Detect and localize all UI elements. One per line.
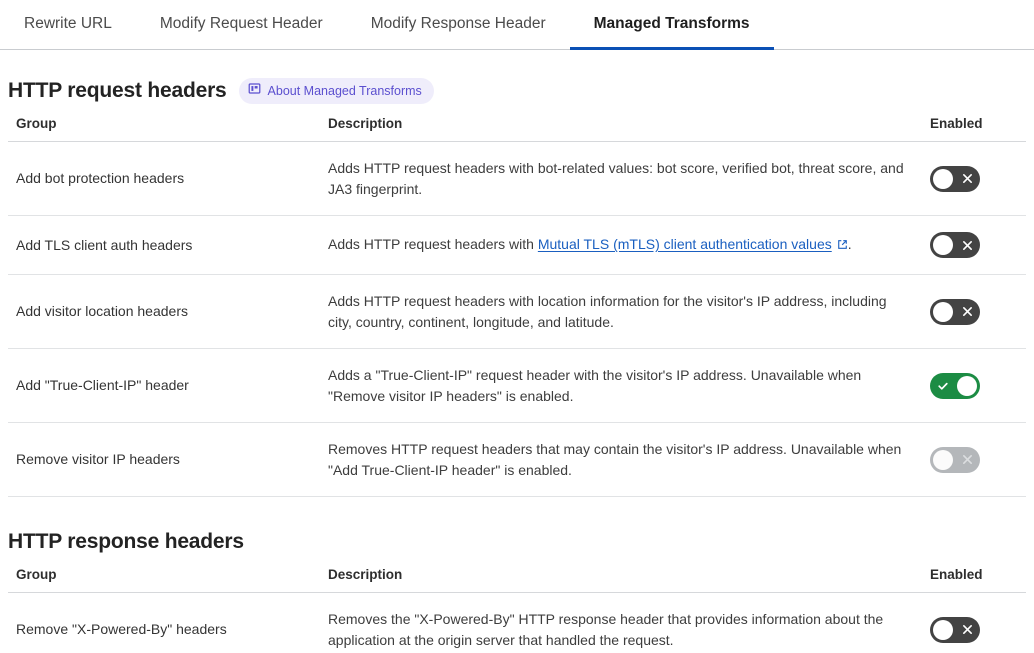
description-text-before-link: Adds HTTP request headers with	[328, 236, 538, 252]
toggle-add-visitor-location-headers[interactable]	[930, 299, 980, 325]
external-link-icon	[837, 235, 848, 256]
row-description: Removes HTTP request headers that may co…	[320, 423, 930, 497]
table-row: Add "True-Client-IP" header Adds a "True…	[8, 349, 1026, 423]
http-request-headers-table: Group Description Enabled Add bot protec…	[8, 116, 1026, 497]
column-header-description: Description	[320, 567, 930, 593]
section-header-http-request-headers: HTTP request headers About Managed Trans…	[8, 50, 1026, 116]
toggle-knob	[933, 169, 953, 189]
table-head: Group Description Enabled	[8, 567, 1026, 593]
row-group-label: Add bot protection headers	[8, 142, 320, 216]
about-managed-transforms-label: About Managed Transforms	[268, 83, 422, 99]
table-body: Add bot protection headers Adds HTTP req…	[8, 142, 1026, 497]
tab-rewrite-url[interactable]: Rewrite URL	[0, 0, 136, 49]
table-row: Add visitor location headers Adds HTTP r…	[8, 275, 1026, 349]
table-header-row: Group Description Enabled	[8, 116, 1026, 142]
row-enabled-cell	[930, 216, 1026, 275]
row-description: Adds HTTP request headers with bot-relat…	[320, 142, 930, 216]
column-header-group: Group	[8, 567, 320, 593]
tab-modify-request-header[interactable]: Modify Request Header	[136, 0, 347, 49]
column-header-group: Group	[8, 116, 320, 142]
toggle-knob	[933, 235, 953, 255]
mutual-tls-link[interactable]: Mutual TLS (mTLS) client authentication …	[538, 236, 832, 252]
row-enabled-cell	[930, 349, 1026, 423]
book-icon	[248, 82, 261, 100]
row-description: Adds HTTP request headers with location …	[320, 275, 930, 349]
cross-icon	[954, 166, 980, 192]
column-header-description: Description	[320, 116, 930, 142]
row-description: Adds a "True-Client-IP" request header w…	[320, 349, 930, 423]
about-managed-transforms-badge[interactable]: About Managed Transforms	[239, 78, 434, 104]
cross-icon	[954, 232, 980, 258]
description-text-after-link: .	[848, 236, 852, 252]
toggle-knob	[933, 450, 953, 470]
toggle-add-tls-client-auth-headers[interactable]	[930, 232, 980, 258]
row-enabled-cell	[930, 593, 1026, 653]
toggle-knob	[957, 376, 977, 396]
table-head: Group Description Enabled	[8, 116, 1026, 142]
cross-icon	[954, 617, 980, 643]
column-header-enabled: Enabled	[930, 116, 1026, 142]
row-description: Removes the "X-Powered-By" HTTP response…	[320, 593, 930, 653]
toggle-remove-x-powered-by-headers[interactable]	[930, 617, 980, 643]
table-row: Add TLS client auth headers Adds HTTP re…	[8, 216, 1026, 275]
table-body: Remove "X-Powered-By" headers Removes th…	[8, 593, 1026, 653]
cross-icon	[954, 447, 980, 473]
tab-bar: Rewrite URL Modify Request Header Modify…	[0, 0, 1034, 50]
row-group-label: Remove visitor IP headers	[8, 423, 320, 497]
section-title: HTTP request headers	[8, 78, 227, 104]
table-row: Remove "X-Powered-By" headers Removes th…	[8, 593, 1026, 653]
http-response-headers-table: Group Description Enabled Remove "X-Powe…	[8, 567, 1026, 653]
page-content: HTTP request headers About Managed Trans…	[0, 50, 1034, 653]
table-row: Add bot protection headers Adds HTTP req…	[8, 142, 1026, 216]
column-header-enabled: Enabled	[930, 567, 1026, 593]
toggle-remove-visitor-ip-headers	[930, 447, 980, 473]
table-row: Remove visitor IP headers Removes HTTP r…	[8, 423, 1026, 497]
row-group-label: Add visitor location headers	[8, 275, 320, 349]
section-title: HTTP response headers	[8, 529, 244, 555]
toggle-add-true-client-ip-header[interactable]	[930, 373, 980, 399]
tab-modify-response-header[interactable]: Modify Response Header	[347, 0, 570, 49]
toggle-add-bot-protection-headers[interactable]	[930, 166, 980, 192]
section-header-http-response-headers: HTTP response headers	[8, 497, 1026, 567]
row-group-label: Add "True-Client-IP" header	[8, 349, 320, 423]
check-icon	[930, 373, 956, 399]
row-description: Adds HTTP request headers with Mutual TL…	[320, 216, 930, 275]
row-group-label: Remove "X-Powered-By" headers	[8, 593, 320, 653]
row-enabled-cell	[930, 423, 1026, 497]
table-header-row: Group Description Enabled	[8, 567, 1026, 593]
row-enabled-cell	[930, 142, 1026, 216]
row-group-label: Add TLS client auth headers	[8, 216, 320, 275]
toggle-knob	[933, 620, 953, 640]
cross-icon	[954, 299, 980, 325]
row-enabled-cell	[930, 275, 1026, 349]
toggle-knob	[933, 302, 953, 322]
tab-managed-transforms[interactable]: Managed Transforms	[570, 0, 774, 49]
